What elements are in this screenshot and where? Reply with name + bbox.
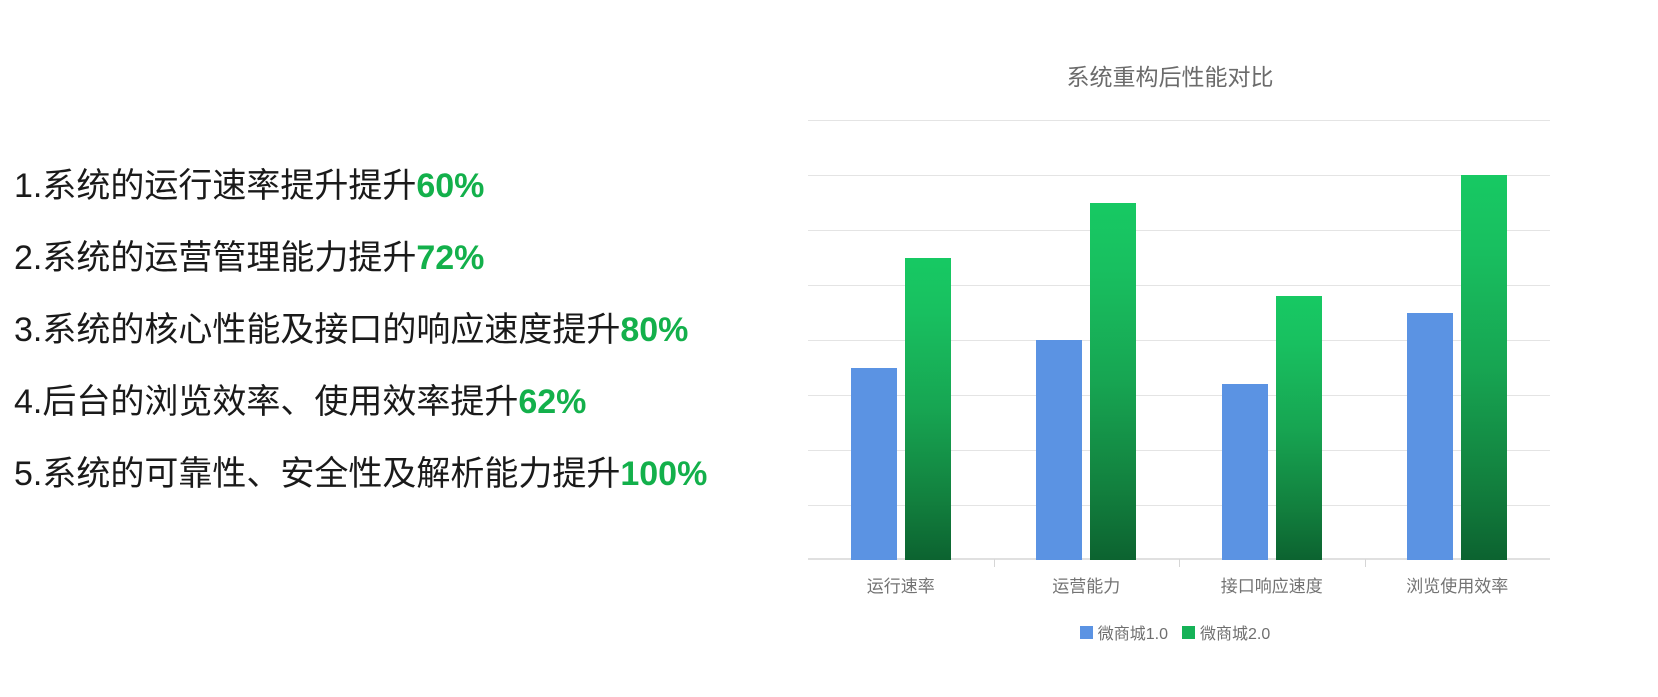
- chart-bar[interactable]: [1222, 384, 1268, 560]
- legend-swatch-icon: [1182, 626, 1195, 639]
- achievement-list: 1.系统的运行速率提升提升60% 2.系统的运营管理能力提升72% 3.系统的核…: [14, 150, 754, 510]
- chart-x-tick: [994, 559, 995, 567]
- list-item-highlight: 60%: [416, 150, 484, 222]
- list-item: 4.后台的浏览效率、使用效率提升62%: [14, 366, 754, 438]
- list-item-index: 1.: [14, 150, 42, 222]
- performance-bar-chart: 系统重构后性能对比 运行速率运营能力接口响应速度浏览使用效率 微商城1.0微商城…: [790, 20, 1550, 640]
- list-item-index: 3.: [14, 294, 42, 366]
- list-item-text: 系统的核心性能及接口的响应速度提升: [42, 294, 620, 366]
- list-item-index: 4.: [14, 366, 42, 438]
- chart-title: 系统重构后性能对比: [790, 58, 1550, 92]
- chart-legend-item[interactable]: 微商城2.0: [1182, 620, 1270, 644]
- chart-bar-groups: [808, 120, 1550, 560]
- list-item: 2.系统的运营管理能力提升72%: [14, 222, 754, 294]
- chart-category-label: 运营能力: [994, 572, 1180, 597]
- chart-legend-label: 微商城1.0: [1098, 620, 1168, 644]
- chart-category-labels: 运行速率运营能力接口响应速度浏览使用效率: [808, 572, 1550, 597]
- list-item: 3.系统的核心性能及接口的响应速度提升80%: [14, 294, 754, 366]
- chart-category-label: 浏览使用效率: [1365, 572, 1551, 597]
- list-item-highlight: 62%: [518, 366, 586, 438]
- legend-swatch-icon: [1080, 626, 1093, 639]
- list-item-index: 2.: [14, 222, 42, 294]
- list-item-text: 系统的运行速率提升提升: [42, 150, 416, 222]
- chart-bar[interactable]: [1407, 313, 1453, 561]
- chart-category-label: 运行速率: [808, 572, 994, 597]
- chart-bar[interactable]: [1036, 340, 1082, 560]
- list-item-highlight: 100%: [620, 438, 707, 510]
- chart-x-tick: [1365, 559, 1366, 567]
- chart-bar[interactable]: [905, 258, 951, 561]
- list-item-highlight: 72%: [416, 222, 484, 294]
- chart-category-label: 接口响应速度: [1179, 572, 1365, 597]
- chart-legend: 微商城1.0微商城2.0: [808, 620, 1550, 644]
- chart-bar[interactable]: [851, 368, 897, 561]
- chart-bar-group: [1179, 120, 1365, 560]
- chart-bar-group: [808, 120, 994, 560]
- list-item-text: 后台的浏览效率、使用效率提升: [42, 366, 518, 438]
- list-item: 5.系统的可靠性、安全性及解析能力提升100%: [14, 438, 754, 510]
- chart-legend-item[interactable]: 微商城1.0: [1080, 620, 1168, 644]
- chart-bar[interactable]: [1276, 296, 1322, 560]
- chart-bar[interactable]: [1090, 203, 1136, 561]
- list-item-text: 系统的可靠性、安全性及解析能力提升: [42, 438, 620, 510]
- chart-legend-label: 微商城2.0: [1200, 620, 1270, 644]
- chart-bar-group: [994, 120, 1180, 560]
- list-item: 1.系统的运行速率提升提升60%: [14, 150, 754, 222]
- list-item-highlight: 80%: [620, 294, 688, 366]
- chart-plot-area: [808, 120, 1550, 560]
- chart-bar-group: [1365, 120, 1551, 560]
- list-item-text: 系统的运营管理能力提升: [42, 222, 416, 294]
- list-item-index: 5.: [14, 438, 42, 510]
- chart-x-tick: [1179, 559, 1180, 567]
- chart-bar[interactable]: [1461, 175, 1507, 560]
- slide-root: 1.系统的运行速率提升提升60% 2.系统的运营管理能力提升72% 3.系统的核…: [0, 0, 1658, 697]
